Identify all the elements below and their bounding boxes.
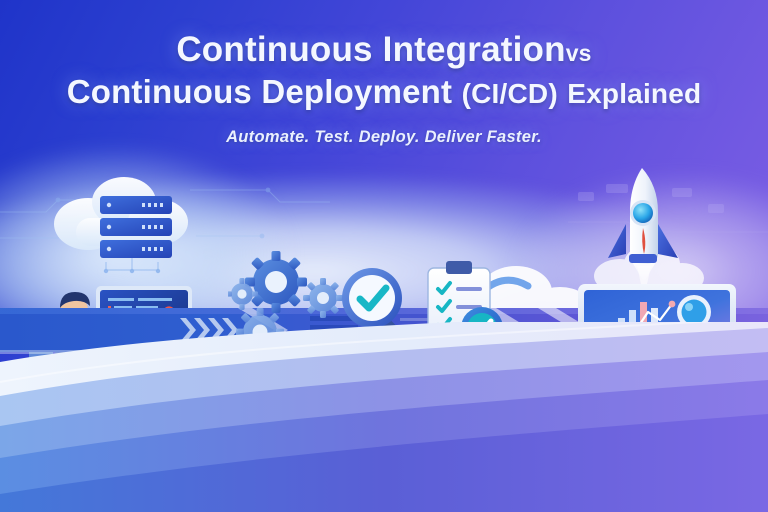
title-line-2: Continuous Deployment (CI/CD) Explained	[0, 75, 768, 109]
poster-canvas: Continuous Integrationvs Continuous Depl…	[0, 0, 768, 512]
background-waves	[0, 322, 768, 512]
title-line-2-suffix: Explained	[567, 78, 701, 109]
title-line-1-main: Continuous Integration	[176, 30, 565, 69]
title-line-1-suffix: vs	[566, 40, 592, 66]
subtitle: Automate. Test. Deploy. Deliver Faster.	[0, 128, 768, 147]
title-block: Continuous Integrationvs Continuous Depl…	[0, 32, 768, 147]
title-line-2-paren: (CI/CD)	[462, 78, 558, 109]
rocket-launch-icon	[596, 162, 692, 298]
title-line-2-main: Continuous Deployment	[67, 73, 453, 110]
cloud-server-rack-icon	[46, 166, 196, 276]
title-line-1: Continuous Integrationvs	[0, 32, 768, 68]
